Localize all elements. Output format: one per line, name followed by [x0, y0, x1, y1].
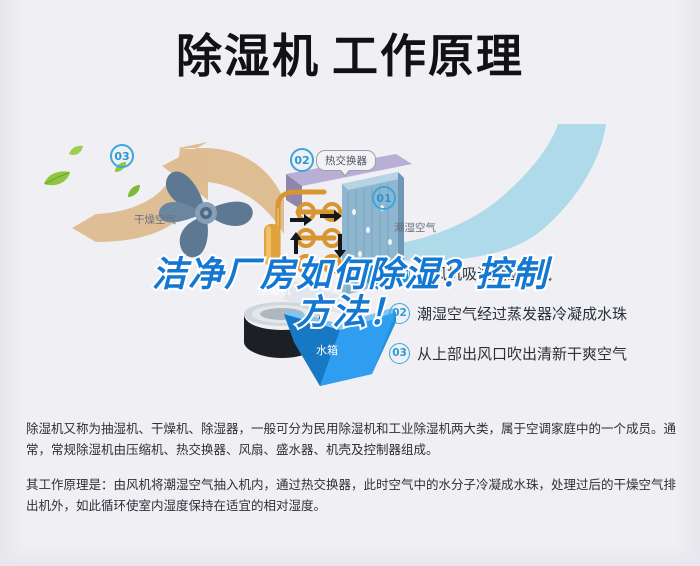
diagram-step-badge-01: 01: [372, 186, 396, 210]
diagram-step-badge-03: 03: [110, 144, 134, 168]
legend-badge-02: 02: [389, 303, 410, 324]
list-item: 03 从上部出风口吹出清新干爽空气: [389, 342, 689, 364]
leaf-icon-1: [42, 170, 72, 193]
legend-text-01: 由风机吸进潮湿空气: [417, 263, 552, 284]
steps-legend: 01 由风机吸进潮湿空气 02 潮湿空气经过蒸发器冷凝成水珠 03 从上部出风口…: [389, 262, 689, 382]
body-paragraph-1: 除湿机又称为抽湿机、干燥机、除湿器，一般可分为民用除湿机和工业除湿机两大类，属于…: [26, 418, 678, 460]
legend-text-02: 潮湿空气经过蒸发器冷凝成水珠: [417, 303, 627, 324]
dehumidifier-infographic: 除湿机工作原理: [0, 0, 700, 566]
legend-badge-03: 03: [389, 343, 410, 364]
water-tank-icon: [280, 308, 400, 386]
title-part-one: 除湿机: [176, 30, 320, 82]
list-item: 02 潮湿空气经过蒸发器冷凝成水珠: [389, 302, 689, 324]
leaf-icon-3: [126, 184, 142, 203]
legend-text-03: 从上部出风口吹出清新干爽空气: [417, 343, 627, 364]
bottom-vignette: [0, 544, 700, 566]
page-title: 除湿机工作原理: [0, 28, 700, 84]
label-water-tank: 水箱: [316, 342, 338, 358]
diagram-step-badge-02: 02: [290, 148, 314, 172]
label-compressor: 压缩机: [258, 282, 291, 298]
list-item: 01 由风机吸进潮湿空气: [389, 262, 689, 284]
title-part-two: 工作原理: [332, 30, 524, 82]
leaf-icon-2: [68, 144, 84, 162]
body-paragraph-2: 其工作原理是：由风机将潮湿空气抽入机内，通过热交换器，此时空气中的水分子冷凝成水…: [26, 474, 678, 516]
article-body: 除湿机又称为抽湿机、干燥机、除湿器，一般可分为民用除湿机和工业除湿机两大类，属于…: [26, 418, 678, 528]
label-dry-air: 干燥空气: [134, 212, 176, 227]
label-humid-air: 潮湿空气: [394, 220, 436, 235]
heat-exchanger-callout: 热交换器: [316, 150, 376, 171]
legend-badge-01: 01: [389, 263, 410, 284]
